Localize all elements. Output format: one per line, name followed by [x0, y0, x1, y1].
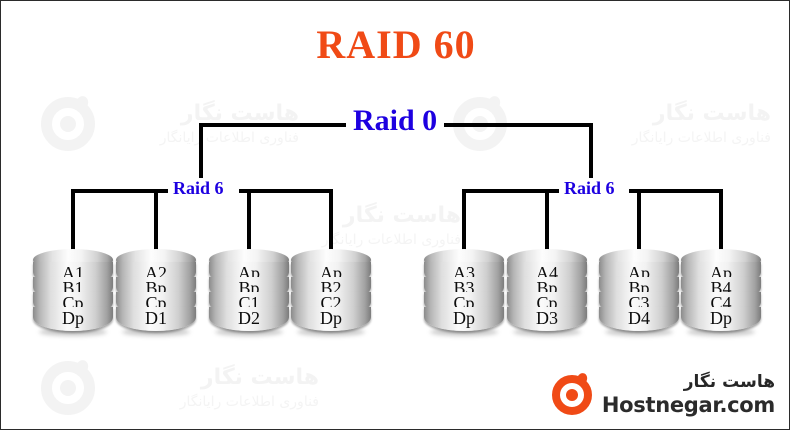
disk-segment: Dp	[681, 307, 761, 331]
watermark-text-middle: هاست نگار فناوری اطلاعات رایانگار	[251, 201, 461, 250]
watermark-subtitle: فناوری اطلاعات رایانگار	[109, 393, 319, 412]
disk-segment-label: D1	[116, 308, 196, 328]
raid0-arm-left	[199, 123, 349, 127]
disk-1: A1 B1 Cp Dp	[33, 249, 113, 331]
raid6-left-drop-3	[247, 189, 251, 251]
disk-2: A2 Bp Cp D1	[116, 249, 196, 331]
disk-6: A4 Bp Cp D3	[507, 249, 587, 331]
disk-segment: D3	[507, 307, 587, 331]
disk-segment: D2	[209, 307, 289, 331]
watermark-title: هاست نگار	[251, 201, 461, 231]
hostnegar-ring-icon	[41, 97, 95, 151]
brand-name-fa: هاست نگار	[602, 373, 775, 393]
node-label-raid6-right: Raid 6	[559, 178, 620, 199]
brand-name-en: Hostnegar.com	[602, 393, 775, 417]
hostnegar-ring-icon	[552, 375, 592, 415]
hostnegar-ring-icon	[41, 361, 95, 415]
raid6-left-bar-outer	[239, 189, 333, 193]
raid6-left-drop-2	[154, 189, 158, 251]
brand-logo: هاست نگار Hostnegar.com	[552, 373, 775, 417]
brand-text: هاست نگار Hostnegar.com	[602, 373, 775, 417]
node-label-raid6-left: Raid 6	[168, 178, 229, 199]
watermark-subtitle: فناوری اطلاعات رایانگار	[109, 129, 299, 148]
watermark-subtitle: فناوری اطلاعات رایانگار	[251, 231, 461, 250]
disk-segment: Dp	[291, 307, 371, 331]
raid6-right-drop-4	[719, 189, 723, 251]
watermark-text-bottom-left: هاست نگار فناوری اطلاعات رایانگار	[109, 363, 319, 412]
raid6-right-bar-inner	[629, 189, 723, 193]
raid6-right-drop-1	[462, 189, 466, 251]
page-title: RAID 60	[1, 21, 790, 68]
disk-segment: D4	[599, 307, 679, 331]
disk-segment-label: D4	[599, 308, 679, 328]
raid6-left-drop-4	[329, 189, 333, 251]
disk-8: Ap B4 C4 Dp	[681, 249, 761, 331]
disk-segment-label: D2	[209, 308, 289, 328]
raid6-right-drop-3	[637, 189, 641, 251]
disk-segment-label: Dp	[33, 308, 113, 328]
disk-segment-label: D3	[507, 308, 587, 328]
disk-segment: D1	[116, 307, 196, 331]
raid60-diagram: هاست نگار فناوری اطلاعات رایانگار هاست ن…	[0, 0, 790, 430]
raid6-right-drop-2	[545, 189, 549, 251]
disk-5: A3 B3 Cp Dp	[424, 249, 504, 331]
disk-4: Ap B2 C2 Dp	[291, 249, 371, 331]
disk-3: Ap Bp C1 D2	[209, 249, 289, 331]
watermark-subtitle: فناوری اطلاعات رایانگار	[521, 129, 771, 148]
watermark-title: هاست نگار	[109, 363, 319, 393]
node-label-raid0: Raid 0	[346, 104, 444, 138]
disk-segment: Dp	[33, 307, 113, 331]
raid6-left-drop-1	[71, 189, 75, 251]
disk-7: Ap Bp C3 D4	[599, 249, 679, 331]
disk-segment-label: Dp	[291, 308, 371, 328]
disk-segment: Dp	[424, 307, 504, 331]
raid0-arm-right	[443, 123, 593, 127]
disk-segment-label: Dp	[424, 308, 504, 328]
disk-segment-label: Dp	[681, 308, 761, 328]
